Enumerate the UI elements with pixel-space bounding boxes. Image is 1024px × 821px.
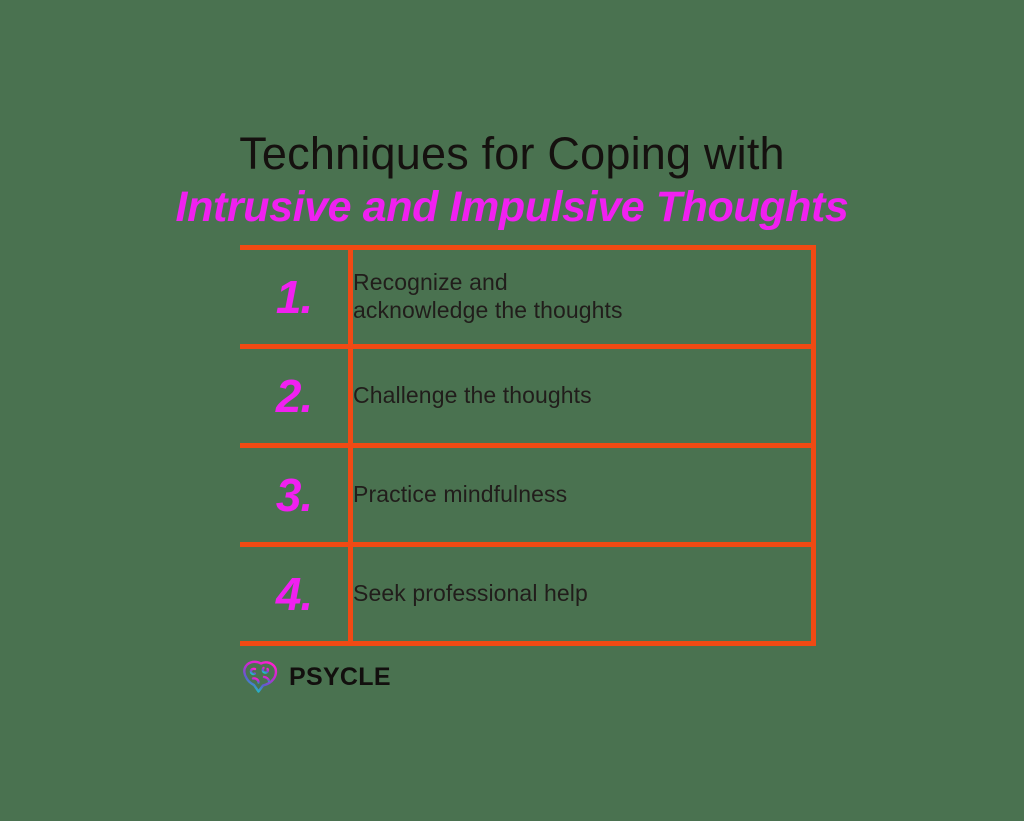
- row-text: Practice mindfulness: [353, 481, 811, 509]
- row-text-line2: acknowledge the thoughts: [353, 297, 811, 325]
- row-text-line1: Recognize and: [353, 269, 508, 295]
- row-text-line1: Challenge the thoughts: [353, 382, 592, 408]
- row-text-line1: Seek professional help: [353, 580, 588, 606]
- row-text: Seek professional help: [353, 580, 811, 608]
- row-text-cell: Practice mindfulness: [351, 446, 814, 545]
- page-title: Techniques for Coping with: [0, 130, 1024, 177]
- brand-logo: PSYCLE: [240, 658, 391, 696]
- logo-wordmark: PSYCLE: [289, 665, 391, 690]
- row-number: 1.: [276, 274, 312, 320]
- table-row: 3. Practice mindfulness: [240, 446, 814, 545]
- row-number-cell: 1.: [240, 248, 351, 347]
- techniques-table: 1. Recognize and acknowledge the thought…: [240, 245, 816, 646]
- row-text-cell: Seek professional help: [351, 545, 814, 644]
- header: Techniques for Coping with Intrusive and…: [0, 130, 1024, 231]
- row-text-line1: Practice mindfulness: [353, 481, 567, 507]
- brain-icon: [240, 658, 282, 696]
- table-row: 1. Recognize and acknowledge the thought…: [240, 248, 814, 347]
- row-number: 2.: [276, 373, 312, 419]
- row-number: 3.: [276, 472, 312, 518]
- row-number-cell: 4.: [240, 545, 351, 644]
- page-subtitle: Intrusive and Impulsive Thoughts: [0, 183, 1024, 231]
- table-row: 4. Seek professional help: [240, 545, 814, 644]
- row-text: Challenge the thoughts: [353, 382, 811, 410]
- row-number-cell: 2.: [240, 347, 351, 446]
- row-number-cell: 3.: [240, 446, 351, 545]
- table-row: 2. Challenge the thoughts: [240, 347, 814, 446]
- row-number: 4.: [276, 571, 312, 617]
- row-text-cell: Challenge the thoughts: [351, 347, 814, 446]
- infographic-canvas: Techniques for Coping with Intrusive and…: [0, 0, 1024, 821]
- row-text: Recognize and acknowledge the thoughts: [353, 269, 811, 324]
- row-text-cell: Recognize and acknowledge the thoughts: [351, 248, 814, 347]
